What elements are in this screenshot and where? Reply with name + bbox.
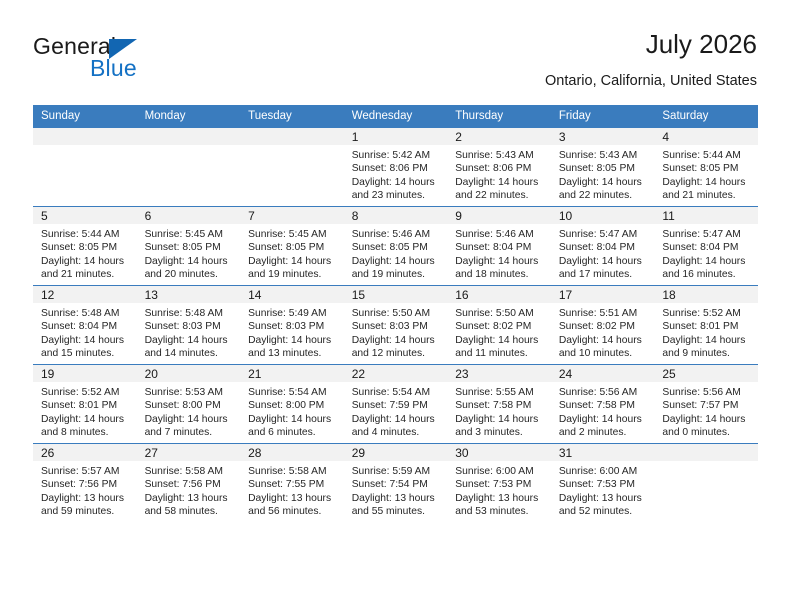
weekday-header-wednesday: Wednesday	[344, 105, 448, 128]
day-detail-line: Daylight: 13 hours	[352, 492, 441, 505]
day-detail-line: Sunrise: 5:51 AM	[559, 307, 648, 320]
day-details: Sunrise: 5:53 AMSunset: 8:00 PMDaylight:…	[137, 382, 241, 440]
day-number: 18	[654, 286, 758, 303]
day-details: Sunrise: 5:46 AMSunset: 8:05 PMDaylight:…	[344, 224, 448, 282]
day-detail-line: Daylight: 14 hours	[248, 255, 337, 268]
day-detail-line: and 13 minutes.	[248, 347, 337, 360]
day-number: 7	[240, 207, 344, 224]
day-detail-line: Sunset: 8:03 PM	[145, 320, 234, 333]
day-detail-line: Sunrise: 5:58 AM	[145, 465, 234, 478]
day-cell[interactable]: 5Sunrise: 5:44 AMSunset: 8:05 PMDaylight…	[33, 207, 137, 286]
day-detail-line: Daylight: 14 hours	[662, 413, 751, 426]
day-detail-line: and 20 minutes.	[145, 268, 234, 281]
day-detail-line: Daylight: 13 hours	[248, 492, 337, 505]
day-detail-line: Sunrise: 5:43 AM	[455, 149, 544, 162]
day-detail-line: Sunrise: 5:46 AM	[352, 228, 441, 241]
day-cell[interactable]: 4Sunrise: 5:44 AMSunset: 8:05 PMDaylight…	[654, 128, 758, 207]
day-detail-line: Sunrise: 5:42 AM	[352, 149, 441, 162]
day-detail-line: and 21 minutes.	[41, 268, 130, 281]
day-detail-line: Sunset: 8:02 PM	[455, 320, 544, 333]
day-detail-line: Daylight: 14 hours	[662, 255, 751, 268]
day-details: Sunrise: 5:46 AMSunset: 8:04 PMDaylight:…	[447, 224, 551, 282]
day-detail-line: Sunrise: 5:55 AM	[455, 386, 544, 399]
day-detail-line: and 19 minutes.	[352, 268, 441, 281]
day-details: Sunrise: 5:43 AMSunset: 8:05 PMDaylight:…	[551, 145, 655, 203]
day-detail-line: Sunrise: 5:48 AM	[145, 307, 234, 320]
day-cell[interactable]: 27Sunrise: 5:58 AMSunset: 7:56 PMDayligh…	[137, 444, 241, 523]
day-number: 12	[33, 286, 137, 303]
day-detail-line: Daylight: 14 hours	[559, 334, 648, 347]
day-detail-line: and 56 minutes.	[248, 505, 337, 518]
day-cell[interactable]: 2Sunrise: 5:43 AMSunset: 8:06 PMDaylight…	[447, 128, 551, 207]
weekday-header-monday: Monday	[137, 105, 241, 128]
day-detail-line: Sunrise: 5:44 AM	[41, 228, 130, 241]
day-details	[240, 145, 344, 149]
day-number: 9	[447, 207, 551, 224]
day-number: 17	[551, 286, 655, 303]
day-cell[interactable]: 16Sunrise: 5:50 AMSunset: 8:02 PMDayligh…	[447, 286, 551, 365]
day-detail-line: Daylight: 14 hours	[248, 334, 337, 347]
day-detail-line: Sunrise: 5:53 AM	[145, 386, 234, 399]
logo-text-blue: Blue	[90, 55, 137, 81]
day-detail-line: and 15 minutes.	[41, 347, 130, 360]
day-detail-line: and 7 minutes.	[145, 426, 234, 439]
day-cell[interactable]: 19Sunrise: 5:52 AMSunset: 8:01 PMDayligh…	[33, 365, 137, 444]
day-details: Sunrise: 5:52 AMSunset: 8:01 PMDaylight:…	[654, 303, 758, 361]
day-cell[interactable]: 15Sunrise: 5:50 AMSunset: 8:03 PMDayligh…	[344, 286, 448, 365]
day-cell[interactable]: 31Sunrise: 6:00 AMSunset: 7:53 PMDayligh…	[551, 444, 655, 523]
day-detail-line: Sunrise: 5:54 AM	[248, 386, 337, 399]
day-detail-line: Sunrise: 5:47 AM	[662, 228, 751, 241]
day-details: Sunrise: 5:43 AMSunset: 8:06 PMDaylight:…	[447, 145, 551, 203]
day-detail-line: Daylight: 13 hours	[455, 492, 544, 505]
day-detail-line: and 11 minutes.	[455, 347, 544, 360]
day-detail-line: and 6 minutes.	[248, 426, 337, 439]
calendar-week-row: 1Sunrise: 5:42 AMSunset: 8:06 PMDaylight…	[33, 128, 758, 207]
day-detail-line: and 14 minutes.	[145, 347, 234, 360]
day-detail-line: and 22 minutes.	[559, 189, 648, 202]
day-detail-line: Sunset: 8:06 PM	[455, 162, 544, 175]
day-details: Sunrise: 5:48 AMSunset: 8:04 PMDaylight:…	[33, 303, 137, 361]
day-number: 31	[551, 444, 655, 461]
calendar-week-row: 19Sunrise: 5:52 AMSunset: 8:01 PMDayligh…	[33, 365, 758, 444]
day-detail-line: Sunrise: 5:56 AM	[559, 386, 648, 399]
day-detail-line: Sunset: 7:55 PM	[248, 478, 337, 491]
calendar-grid: SundayMondayTuesdayWednesdayThursdayFrid…	[33, 105, 758, 522]
weekday-header-sunday: Sunday	[33, 105, 137, 128]
calendar-header-row: SundayMondayTuesdayWednesdayThursdayFrid…	[33, 105, 758, 128]
day-number: 3	[551, 128, 655, 145]
day-detail-line: Daylight: 13 hours	[41, 492, 130, 505]
day-detail-line: Daylight: 14 hours	[41, 255, 130, 268]
day-cell[interactable]: 30Sunrise: 6:00 AMSunset: 7:53 PMDayligh…	[447, 444, 551, 523]
day-number: 1	[344, 128, 448, 145]
day-detail-line: and 8 minutes.	[41, 426, 130, 439]
general-blue-logo[interactable]: General Blue	[33, 33, 233, 89]
day-cell[interactable]: 25Sunrise: 5:56 AMSunset: 7:57 PMDayligh…	[654, 365, 758, 444]
day-cell[interactable]: 1Sunrise: 5:42 AMSunset: 8:06 PMDaylight…	[344, 128, 448, 207]
day-detail-line: Sunrise: 5:44 AM	[662, 149, 751, 162]
day-detail-line: Sunset: 8:03 PM	[352, 320, 441, 333]
page-title: July 2026	[545, 28, 757, 60]
day-detail-line: Daylight: 14 hours	[145, 413, 234, 426]
day-details: Sunrise: 5:58 AMSunset: 7:55 PMDaylight:…	[240, 461, 344, 519]
day-number: 14	[240, 286, 344, 303]
day-number: 27	[137, 444, 241, 461]
day-details: Sunrise: 5:54 AMSunset: 8:00 PMDaylight:…	[240, 382, 344, 440]
day-detail-line: Sunrise: 5:56 AM	[662, 386, 751, 399]
day-detail-line: Sunrise: 5:43 AM	[559, 149, 648, 162]
day-detail-line: Daylight: 14 hours	[455, 413, 544, 426]
day-details: Sunrise: 5:42 AMSunset: 8:06 PMDaylight:…	[344, 145, 448, 203]
day-details: Sunrise: 5:56 AMSunset: 7:57 PMDaylight:…	[654, 382, 758, 440]
day-detail-line: Sunrise: 5:45 AM	[145, 228, 234, 241]
day-number: 21	[240, 365, 344, 382]
day-detail-line: and 53 minutes.	[455, 505, 544, 518]
day-detail-line: Sunset: 7:58 PM	[559, 399, 648, 412]
day-number: 25	[654, 365, 758, 382]
day-details: Sunrise: 5:49 AMSunset: 8:03 PMDaylight:…	[240, 303, 344, 361]
day-detail-line: and 21 minutes.	[662, 189, 751, 202]
day-cell[interactable]: 28Sunrise: 5:58 AMSunset: 7:55 PMDayligh…	[240, 444, 344, 523]
day-cell[interactable]: 11Sunrise: 5:47 AMSunset: 8:04 PMDayligh…	[654, 207, 758, 286]
day-details: Sunrise: 5:57 AMSunset: 7:56 PMDaylight:…	[33, 461, 137, 519]
weekday-header-friday: Friday	[551, 105, 655, 128]
page-subtitle: Ontario, California, United States	[545, 72, 757, 90]
day-detail-line: Sunrise: 5:45 AM	[248, 228, 337, 241]
day-number: 2	[447, 128, 551, 145]
day-number	[654, 444, 758, 461]
day-details: Sunrise: 5:59 AMSunset: 7:54 PMDaylight:…	[344, 461, 448, 519]
day-details: Sunrise: 5:58 AMSunset: 7:56 PMDaylight:…	[137, 461, 241, 519]
day-detail-line: Sunset: 8:00 PM	[145, 399, 234, 412]
day-number: 24	[551, 365, 655, 382]
day-detail-line: Sunset: 7:53 PM	[559, 478, 648, 491]
day-detail-line: Daylight: 14 hours	[455, 334, 544, 347]
day-number: 20	[137, 365, 241, 382]
day-detail-line: Daylight: 14 hours	[145, 334, 234, 347]
day-details	[137, 145, 241, 149]
day-detail-line: Sunset: 7:53 PM	[455, 478, 544, 491]
day-detail-line: Daylight: 14 hours	[145, 255, 234, 268]
calendar-body: 1Sunrise: 5:42 AMSunset: 8:06 PMDaylight…	[33, 128, 758, 523]
weekday-header-saturday: Saturday	[654, 105, 758, 128]
day-detail-line: and 12 minutes.	[352, 347, 441, 360]
day-detail-line: Sunset: 8:04 PM	[662, 241, 751, 254]
day-cell[interactable]: 9Sunrise: 5:46 AMSunset: 8:04 PMDaylight…	[447, 207, 551, 286]
day-cell[interactable]: 18Sunrise: 5:52 AMSunset: 8:01 PMDayligh…	[654, 286, 758, 365]
day-cell[interactable]: 17Sunrise: 5:51 AMSunset: 8:02 PMDayligh…	[551, 286, 655, 365]
day-cell[interactable]: 3Sunrise: 5:43 AMSunset: 8:05 PMDaylight…	[551, 128, 655, 207]
calendar-week-row: 26Sunrise: 5:57 AMSunset: 7:56 PMDayligh…	[33, 444, 758, 523]
day-cell[interactable]: 26Sunrise: 5:57 AMSunset: 7:56 PMDayligh…	[33, 444, 137, 523]
day-cell-empty	[33, 128, 137, 207]
day-detail-line: Sunrise: 5:57 AM	[41, 465, 130, 478]
day-details: Sunrise: 6:00 AMSunset: 7:53 PMDaylight:…	[447, 461, 551, 519]
day-detail-line: and 18 minutes.	[455, 268, 544, 281]
day-detail-line: Daylight: 14 hours	[662, 334, 751, 347]
day-cell[interactable]: 13Sunrise: 5:48 AMSunset: 8:03 PMDayligh…	[137, 286, 241, 365]
weekday-header-row: SundayMondayTuesdayWednesdayThursdayFrid…	[33, 105, 758, 128]
day-details: Sunrise: 5:47 AMSunset: 8:04 PMDaylight:…	[654, 224, 758, 282]
calendar-page: General Blue July 2026 Ontario, Californ…	[0, 0, 792, 612]
day-detail-line: Sunset: 8:03 PM	[248, 320, 337, 333]
day-detail-line: Daylight: 14 hours	[559, 255, 648, 268]
day-detail-line: and 9 minutes.	[662, 347, 751, 360]
day-detail-line: and 22 minutes.	[455, 189, 544, 202]
day-detail-line: Sunrise: 5:48 AM	[41, 307, 130, 320]
day-detail-line: Sunrise: 5:54 AM	[352, 386, 441, 399]
day-number: 28	[240, 444, 344, 461]
day-details: Sunrise: 5:56 AMSunset: 7:58 PMDaylight:…	[551, 382, 655, 440]
day-details	[33, 145, 137, 149]
day-detail-line: Sunrise: 5:52 AM	[41, 386, 130, 399]
day-details: Sunrise: 5:44 AMSunset: 8:05 PMDaylight:…	[33, 224, 137, 282]
day-details: Sunrise: 5:54 AMSunset: 7:59 PMDaylight:…	[344, 382, 448, 440]
day-detail-line: and 19 minutes.	[248, 268, 337, 281]
day-cell-empty	[137, 128, 241, 207]
day-detail-line: and 59 minutes.	[41, 505, 130, 518]
day-number: 5	[33, 207, 137, 224]
day-cell-empty	[240, 128, 344, 207]
day-cell[interactable]: 29Sunrise: 5:59 AMSunset: 7:54 PMDayligh…	[344, 444, 448, 523]
day-details: Sunrise: 5:47 AMSunset: 8:04 PMDaylight:…	[551, 224, 655, 282]
day-cell[interactable]: 7Sunrise: 5:45 AMSunset: 8:05 PMDaylight…	[240, 207, 344, 286]
day-detail-line: Daylight: 14 hours	[352, 413, 441, 426]
day-detail-line: Sunset: 8:05 PM	[145, 241, 234, 254]
day-detail-line: Sunset: 8:04 PM	[41, 320, 130, 333]
day-detail-line: Daylight: 14 hours	[352, 255, 441, 268]
day-detail-line: Daylight: 14 hours	[352, 334, 441, 347]
day-details: Sunrise: 5:55 AMSunset: 7:58 PMDaylight:…	[447, 382, 551, 440]
day-detail-line: Sunset: 7:54 PM	[352, 478, 441, 491]
day-number: 13	[137, 286, 241, 303]
day-detail-line: Sunrise: 5:52 AM	[662, 307, 751, 320]
day-detail-line: Daylight: 14 hours	[455, 255, 544, 268]
weekday-header-thursday: Thursday	[447, 105, 551, 128]
day-number: 8	[344, 207, 448, 224]
day-detail-line: Sunset: 8:00 PM	[248, 399, 337, 412]
day-detail-line: Sunset: 8:05 PM	[41, 241, 130, 254]
day-cell-empty	[654, 444, 758, 523]
day-detail-line: Daylight: 14 hours	[248, 413, 337, 426]
day-details: Sunrise: 5:50 AMSunset: 8:03 PMDaylight:…	[344, 303, 448, 361]
day-number: 30	[447, 444, 551, 461]
day-detail-line: Daylight: 14 hours	[559, 176, 648, 189]
day-detail-line: and 52 minutes.	[559, 505, 648, 518]
day-detail-line: Sunset: 8:06 PM	[352, 162, 441, 175]
day-detail-line: and 58 minutes.	[145, 505, 234, 518]
day-detail-line: Sunrise: 5:47 AM	[559, 228, 648, 241]
day-cell[interactable]: 22Sunrise: 5:54 AMSunset: 7:59 PMDayligh…	[344, 365, 448, 444]
day-detail-line: Sunrise: 5:46 AM	[455, 228, 544, 241]
day-detail-line: Sunrise: 6:00 AM	[455, 465, 544, 478]
day-detail-line: Sunset: 8:02 PM	[559, 320, 648, 333]
day-detail-line: Sunset: 7:58 PM	[455, 399, 544, 412]
day-cell[interactable]: 21Sunrise: 5:54 AMSunset: 8:00 PMDayligh…	[240, 365, 344, 444]
calendar-week-row: 5Sunrise: 5:44 AMSunset: 8:05 PMDaylight…	[33, 207, 758, 286]
title-block: July 2026 Ontario, California, United St…	[545, 28, 757, 90]
day-cell[interactable]: 6Sunrise: 5:45 AMSunset: 8:05 PMDaylight…	[137, 207, 241, 286]
day-detail-line: and 3 minutes.	[455, 426, 544, 439]
day-detail-line: Daylight: 14 hours	[662, 176, 751, 189]
day-detail-line: and 23 minutes.	[352, 189, 441, 202]
day-detail-line: Sunset: 8:05 PM	[248, 241, 337, 254]
day-details: Sunrise: 5:44 AMSunset: 8:05 PMDaylight:…	[654, 145, 758, 203]
day-detail-line: Sunrise: 5:58 AM	[248, 465, 337, 478]
day-cell[interactable]: 23Sunrise: 5:55 AMSunset: 7:58 PMDayligh…	[447, 365, 551, 444]
day-number: 16	[447, 286, 551, 303]
day-detail-line: Sunrise: 5:50 AM	[352, 307, 441, 320]
day-details: Sunrise: 5:52 AMSunset: 8:01 PMDaylight:…	[33, 382, 137, 440]
day-detail-line: Daylight: 13 hours	[559, 492, 648, 505]
day-detail-line: Sunrise: 5:59 AM	[352, 465, 441, 478]
day-cell[interactable]: 12Sunrise: 5:48 AMSunset: 8:04 PMDayligh…	[33, 286, 137, 365]
day-number: 23	[447, 365, 551, 382]
day-number: 29	[344, 444, 448, 461]
day-detail-line: and 17 minutes.	[559, 268, 648, 281]
weekday-header-tuesday: Tuesday	[240, 105, 344, 128]
day-number	[240, 128, 344, 145]
day-details: Sunrise: 6:00 AMSunset: 7:53 PMDaylight:…	[551, 461, 655, 519]
day-detail-line: Sunset: 7:56 PM	[41, 478, 130, 491]
day-detail-line: and 0 minutes.	[662, 426, 751, 439]
day-cell[interactable]: 14Sunrise: 5:49 AMSunset: 8:03 PMDayligh…	[240, 286, 344, 365]
page-header: General Blue July 2026 Ontario, Californ…	[33, 28, 757, 100]
day-details: Sunrise: 5:45 AMSunset: 8:05 PMDaylight:…	[240, 224, 344, 282]
day-details: Sunrise: 5:45 AMSunset: 8:05 PMDaylight:…	[137, 224, 241, 282]
day-number: 4	[654, 128, 758, 145]
day-detail-line: Sunset: 8:05 PM	[662, 162, 751, 175]
day-cell[interactable]: 20Sunrise: 5:53 AMSunset: 8:00 PMDayligh…	[137, 365, 241, 444]
day-details	[654, 461, 758, 465]
day-cell[interactable]: 8Sunrise: 5:46 AMSunset: 8:05 PMDaylight…	[344, 207, 448, 286]
day-detail-line: Sunset: 8:05 PM	[559, 162, 648, 175]
day-number: 26	[33, 444, 137, 461]
day-detail-line: Sunset: 8:04 PM	[559, 241, 648, 254]
day-detail-line: Sunset: 7:57 PM	[662, 399, 751, 412]
day-details: Sunrise: 5:51 AMSunset: 8:02 PMDaylight:…	[551, 303, 655, 361]
day-detail-line: Sunset: 8:01 PM	[662, 320, 751, 333]
day-number	[137, 128, 241, 145]
day-detail-line: Daylight: 14 hours	[559, 413, 648, 426]
day-detail-line: Daylight: 14 hours	[41, 413, 130, 426]
day-detail-line: Sunset: 8:05 PM	[352, 241, 441, 254]
day-number: 22	[344, 365, 448, 382]
day-detail-line: and 10 minutes.	[559, 347, 648, 360]
day-detail-line: Sunrise: 5:50 AM	[455, 307, 544, 320]
day-detail-line: Sunrise: 6:00 AM	[559, 465, 648, 478]
day-details: Sunrise: 5:48 AMSunset: 8:03 PMDaylight:…	[137, 303, 241, 361]
day-detail-line: Sunset: 7:56 PM	[145, 478, 234, 491]
day-details: Sunrise: 5:50 AMSunset: 8:02 PMDaylight:…	[447, 303, 551, 361]
day-detail-line: and 55 minutes.	[352, 505, 441, 518]
day-detail-line: Sunset: 8:04 PM	[455, 241, 544, 254]
day-detail-line: Sunset: 8:01 PM	[41, 399, 130, 412]
day-detail-line: and 2 minutes.	[559, 426, 648, 439]
day-detail-line: Sunrise: 5:49 AM	[248, 307, 337, 320]
day-detail-line: Sunset: 7:59 PM	[352, 399, 441, 412]
day-detail-line: Daylight: 14 hours	[41, 334, 130, 347]
day-cell[interactable]: 24Sunrise: 5:56 AMSunset: 7:58 PMDayligh…	[551, 365, 655, 444]
day-number: 10	[551, 207, 655, 224]
day-number: 15	[344, 286, 448, 303]
day-detail-line: Daylight: 13 hours	[145, 492, 234, 505]
day-number: 6	[137, 207, 241, 224]
day-number: 11	[654, 207, 758, 224]
calendar-week-row: 12Sunrise: 5:48 AMSunset: 8:04 PMDayligh…	[33, 286, 758, 365]
day-detail-line: Daylight: 14 hours	[352, 176, 441, 189]
day-detail-line: and 4 minutes.	[352, 426, 441, 439]
day-number	[33, 128, 137, 145]
day-number: 19	[33, 365, 137, 382]
day-detail-line: Daylight: 14 hours	[455, 176, 544, 189]
day-detail-line: and 16 minutes.	[662, 268, 751, 281]
day-cell[interactable]: 10Sunrise: 5:47 AMSunset: 8:04 PMDayligh…	[551, 207, 655, 286]
